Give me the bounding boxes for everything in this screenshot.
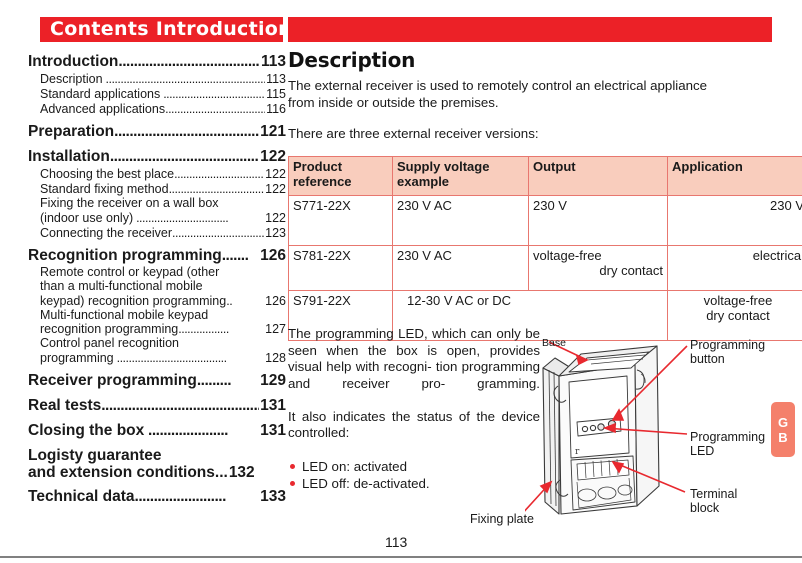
toc-label: Real tests bbox=[28, 397, 101, 415]
toc-page: 132 bbox=[228, 464, 255, 481]
toc-leader: ... bbox=[215, 464, 228, 481]
header-line-1: Application bbox=[672, 159, 802, 174]
language-tab-line-1: G bbox=[778, 415, 788, 430]
toc-page: 126 bbox=[259, 247, 286, 265]
toc-label: Remote control or keypad (other bbox=[40, 265, 219, 279]
receiver-versions-table: Product reference Supply voltage example… bbox=[288, 156, 802, 341]
toc-label: (indoor use only) bbox=[40, 211, 133, 225]
toc-entry-multifunctional-keypad-line2[interactable]: recognition programming ................… bbox=[28, 322, 286, 336]
callout-label-programming-button: Programming button bbox=[690, 338, 765, 366]
list-item: LED off: de-activated. bbox=[288, 475, 540, 492]
callout-line-1: Terminal bbox=[690, 487, 737, 501]
toc-entry-technical-data[interactable]: Technical data ........................ … bbox=[28, 488, 286, 506]
toc-label: Connecting the receiver bbox=[40, 226, 172, 240]
toc-leader: ........................................… bbox=[110, 148, 259, 166]
toc-entry-closing-the-box[interactable]: Closing the box ..................... 13… bbox=[28, 422, 286, 440]
table-header-output: Output bbox=[529, 157, 668, 196]
toc-label: programming bbox=[40, 351, 114, 365]
page-root: Contents Introduction Introduction .....… bbox=[0, 0, 802, 563]
table-row: S781-22X 230 V AC voltage-free dry conta… bbox=[289, 246, 802, 291]
toc-label: keypad) recognition programming bbox=[40, 294, 226, 308]
toc-entry-installation[interactable]: Installation ...........................… bbox=[28, 148, 286, 166]
callout-label-programming-led: Programming LED bbox=[690, 430, 765, 458]
header-line-2: reference bbox=[293, 174, 388, 189]
table-header-product-reference: Product reference bbox=[289, 157, 393, 196]
toc-entry-remote-control-line1[interactable]: Remote control or keypad (other bbox=[28, 265, 286, 280]
description-paragraph-line2: from inside or outside the premises. bbox=[288, 95, 790, 112]
toc-leader: ....... bbox=[222, 247, 259, 265]
callout-label-terminal-block: Terminal block bbox=[690, 487, 737, 515]
led-status-list: LED on: activated LED off: de-activated. bbox=[288, 458, 540, 492]
header-banner-contents: Contents Introduction bbox=[40, 17, 283, 42]
toc-label: Standard applications bbox=[40, 87, 160, 101]
toc-leader: .................................... bbox=[169, 182, 265, 196]
description-section: Description The external receiver is use… bbox=[288, 48, 802, 143]
toc-label: Introduction bbox=[28, 53, 118, 71]
toc-page: 131 bbox=[259, 422, 286, 440]
toc-label: Logisty guarantee bbox=[28, 447, 286, 464]
toc-leader: ............................... bbox=[133, 211, 264, 225]
cell-output: 230 V bbox=[529, 196, 668, 246]
toc-leader: ........................................… bbox=[160, 87, 265, 101]
cell-application: 230 V bbox=[668, 196, 802, 246]
toc-entry-preparation[interactable]: Preparation ............................… bbox=[28, 123, 286, 141]
toc-leader: ........................ bbox=[135, 488, 260, 506]
toc-page: 127 bbox=[264, 322, 286, 336]
toc-label: Fixing the receiver on a wall box bbox=[40, 196, 219, 210]
toc-leader: ........................................… bbox=[118, 53, 260, 71]
toc-label: Multi-functional mobile keypad bbox=[40, 308, 208, 322]
toc-leader: ..................................... bbox=[114, 351, 265, 365]
callout-line-2: block bbox=[690, 501, 737, 515]
cell-supply-voltage: 230 V AC bbox=[393, 246, 529, 291]
table-of-contents: Introduction ...........................… bbox=[28, 46, 286, 506]
cell-output-line-2: dry contact bbox=[672, 308, 802, 323]
toc-entry-remote-control-line2[interactable]: than a multi-functional mobile bbox=[28, 279, 286, 294]
toc-entry-receiver-programming[interactable]: Receiver programming ......... 129 bbox=[28, 372, 286, 390]
toc-page: 128 bbox=[264, 351, 286, 365]
toc-page: 115 bbox=[265, 87, 286, 101]
cell-product-reference: S771-22X bbox=[289, 196, 393, 246]
callout-label-fixing-plate: Fixing plate bbox=[470, 512, 534, 526]
svg-text:r: r bbox=[575, 447, 580, 457]
toc-label: and extension conditions bbox=[28, 464, 215, 481]
toc-entry-logisty-guarantee[interactable]: Logisty guarantee and extension conditio… bbox=[28, 447, 286, 481]
cell-output-line-1: voltage-free bbox=[672, 293, 802, 308]
toc-label: Advanced applications bbox=[40, 102, 165, 116]
toc-label: Preparation bbox=[28, 123, 114, 141]
toc-page: 122 bbox=[264, 182, 286, 196]
programming-led-info: The programming LED, which can only be s… bbox=[288, 326, 540, 492]
toc-page: 113 bbox=[260, 53, 286, 71]
toc-label: Receiver programming bbox=[28, 372, 197, 390]
toc-leader: ........................................… bbox=[165, 102, 265, 116]
toc-label: Closing the box bbox=[28, 422, 144, 440]
toc-page: 131 bbox=[259, 397, 286, 415]
header-line-1: Output bbox=[533, 159, 663, 174]
cell-application: electrical bbox=[668, 246, 802, 291]
language-tab-line-2: B bbox=[778, 430, 787, 445]
toc-leader: ........................................… bbox=[114, 123, 259, 141]
toc-entry-multifunctional-keypad-line1[interactable]: Multi-functional mobile keypad bbox=[28, 308, 286, 323]
cell-product-reference: S781-22X bbox=[289, 246, 393, 291]
toc-label: than a multi-functional mobile bbox=[40, 279, 203, 293]
section-title-description: Description bbox=[288, 48, 802, 72]
toc-label: Description bbox=[40, 72, 103, 86]
led-paragraph-2: It also indicates the status of the devi… bbox=[288, 409, 540, 459]
toc-entry-real-tests[interactable]: Real tests .............................… bbox=[28, 397, 286, 415]
table-header-application: Application bbox=[668, 157, 802, 196]
toc-page: 129 bbox=[259, 372, 286, 390]
led-bullet-text: LED off: de-activated. bbox=[302, 476, 430, 491]
toc-label: Standard fixing method bbox=[40, 182, 169, 196]
cell-output: voltage-free dry contact bbox=[529, 246, 668, 291]
toc-label: Choosing the best place bbox=[40, 167, 174, 181]
header-line-1: Product bbox=[293, 159, 388, 174]
header-banner-right bbox=[288, 17, 772, 42]
toc-leader: ................. bbox=[178, 322, 264, 336]
toc-label: Control panel recognition bbox=[40, 336, 179, 350]
toc-label: Installation bbox=[28, 148, 110, 166]
language-tab-gb: G B bbox=[771, 402, 795, 457]
toc-leader: ..................... bbox=[144, 422, 259, 440]
toc-page: 133 bbox=[259, 488, 286, 506]
list-item: LED on: activated bbox=[288, 458, 540, 475]
callout-line-1: Programming bbox=[690, 430, 765, 444]
header-line-2: example bbox=[397, 174, 524, 189]
toc-entry-connecting-receiver[interactable]: Connecting the receiver ................… bbox=[28, 226, 286, 240]
toc-leader: .. bbox=[226, 294, 264, 308]
cell-output-line-2: dry contact bbox=[533, 263, 663, 278]
toc-leader: ........................................… bbox=[103, 72, 266, 86]
led-bullet-text: LED on: activated bbox=[302, 459, 407, 474]
toc-entry-standard-applications[interactable]: Standard applications ..................… bbox=[28, 87, 286, 101]
toc-leader: ......... bbox=[197, 372, 259, 390]
table-header-supply-voltage: Supply voltage example bbox=[393, 157, 529, 196]
cell-application-line-1: electrical bbox=[672, 248, 802, 263]
toc-entry-introduction[interactable]: Introduction ...........................… bbox=[28, 53, 286, 71]
footer-divider bbox=[0, 556, 802, 558]
callout-line-2: LED bbox=[690, 444, 765, 458]
toc-entry-description[interactable]: Description ............................… bbox=[28, 72, 286, 86]
toc-entry-standard-fixing-method[interactable]: Standard fixing method .................… bbox=[28, 182, 286, 196]
table-header-row: Product reference Supply voltage example… bbox=[289, 157, 802, 196]
toc-entry-control-panel-line1[interactable]: Control panel recognition bbox=[28, 336, 286, 351]
toc-entry-fixing-wall-box-line2[interactable]: (indoor use only) ......................… bbox=[28, 211, 286, 225]
toc-entry-fixing-wall-box-line1[interactable]: Fixing the receiver on a wall box bbox=[28, 196, 286, 211]
description-paragraph-line1: The external receiver is used to remotel… bbox=[288, 78, 790, 95]
bullet-dot-icon bbox=[290, 481, 295, 486]
toc-page: 113 bbox=[265, 72, 286, 86]
toc-page: 123 bbox=[264, 226, 286, 240]
toc-entry-recognition-programming[interactable]: Recognition programming ....... 126 bbox=[28, 247, 286, 265]
header-banner-title: Contents Introduction bbox=[50, 18, 283, 40]
toc-page: 122 bbox=[264, 211, 286, 225]
cell-supply-voltage: 230 V AC bbox=[393, 196, 529, 246]
description-versions-intro: There are three external receiver versio… bbox=[288, 126, 790, 143]
toc-entry-choosing-best-place[interactable]: Choosing the best place ................… bbox=[28, 167, 286, 181]
toc-page: 122 bbox=[259, 148, 286, 166]
toc-entry-advanced-applications[interactable]: Advanced applications ..................… bbox=[28, 102, 286, 116]
toc-leader: ................................... bbox=[172, 226, 264, 240]
toc-entry-extension-conditions[interactable]: and extension conditions ... 132 bbox=[28, 464, 286, 481]
page-number: 113 bbox=[385, 534, 407, 550]
callout-label-base: Base bbox=[542, 336, 566, 350]
cell-output-line-1: voltage-free bbox=[533, 248, 663, 263]
toc-label: Recognition programming bbox=[28, 247, 222, 265]
toc-page: 116 bbox=[265, 102, 286, 116]
bullet-dot-icon bbox=[290, 464, 295, 469]
led-paragraph-1: The programming LED, which can only be s… bbox=[288, 326, 540, 409]
cell-supply-line: 12-30 V AC or DC bbox=[397, 293, 663, 308]
toc-page: 126 bbox=[264, 294, 286, 308]
header-line-1: Supply voltage bbox=[397, 159, 524, 174]
toc-label: recognition programming bbox=[40, 322, 178, 336]
toc-page: 121 bbox=[259, 123, 286, 141]
table-row: S771-22X 230 V AC 230 V 230 V lighting c… bbox=[289, 196, 802, 246]
callout-line-1: Programming bbox=[690, 338, 765, 352]
toc-entry-remote-control-line3[interactable]: keypad) recognition programming .. 126 bbox=[28, 294, 286, 308]
toc-leader: ................................. bbox=[174, 167, 264, 181]
toc-entry-control-panel-line2[interactable]: programming ............................… bbox=[28, 351, 286, 365]
toc-leader: ........................................… bbox=[101, 397, 259, 415]
toc-page: 122 bbox=[264, 167, 286, 181]
callout-line-2: button bbox=[690, 352, 765, 366]
toc-label: Technical data bbox=[28, 488, 135, 506]
